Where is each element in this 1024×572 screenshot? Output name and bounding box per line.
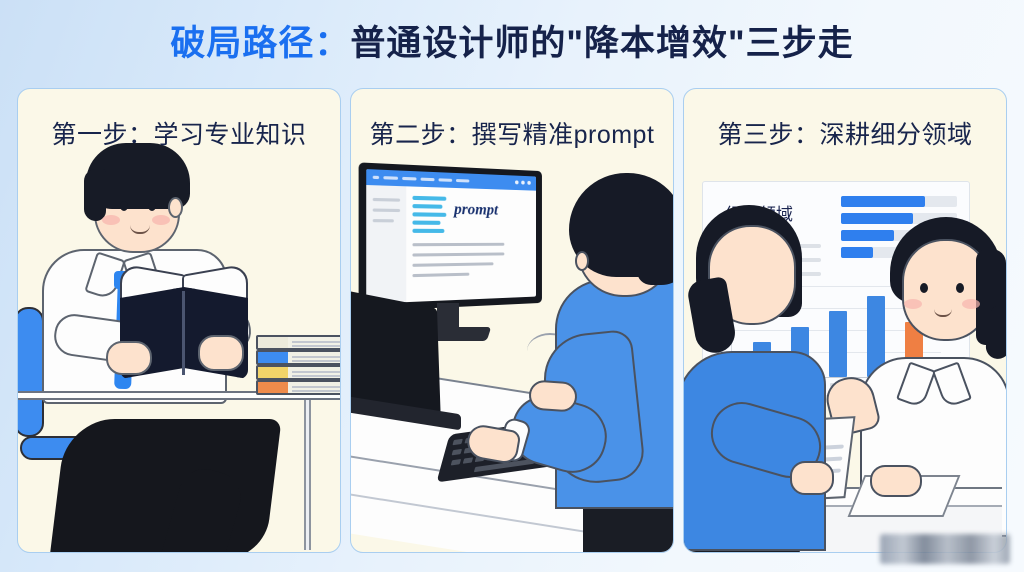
person-hair-side: [84, 169, 106, 221]
person-ear: [168, 197, 183, 218]
step-card-1[interactable]: 第一步：学习专业知识: [17, 88, 341, 553]
book-spine: [182, 291, 185, 375]
step-card-3[interactable]: 第三步：深耕细分领域 细分领域: [683, 88, 1007, 553]
watermark: [880, 534, 1010, 564]
person-hand-right: [528, 379, 578, 412]
right-person-eye-left: [920, 283, 928, 293]
page-title-main: 普通设计师的"降本增效"三步走: [350, 24, 853, 63]
person-eye-left: [120, 201, 128, 211]
stacked-book: [256, 365, 341, 380]
left-person-hand: [790, 461, 834, 495]
person-blush-right: [152, 215, 170, 225]
progress-fill: [841, 196, 925, 207]
person-blush-left: [102, 215, 120, 225]
right-person-blush-left: [904, 299, 922, 309]
step-card-3-title: 第三步：深耕细分领域: [684, 89, 1006, 151]
chair-back: [17, 307, 44, 437]
step-card-2-title: 第二步：撰写精准prompt: [351, 89, 673, 151]
person-hand-right: [198, 335, 244, 371]
progress-fill: [841, 230, 894, 241]
person-legs: [49, 419, 281, 553]
monitor-screen: prompt: [366, 169, 536, 304]
browser-sidebar: [366, 185, 406, 304]
person-eye-right: [148, 201, 156, 211]
step-card-1-title: 第一步：学习专业知识: [18, 89, 340, 151]
progress-track: [841, 196, 957, 207]
stacked-book: [256, 380, 341, 395]
chart-bar: [829, 311, 847, 377]
page-title-accent: 破局路径：: [170, 24, 350, 63]
steps-container: 第一步：学习专业知识: [17, 88, 1007, 553]
person-hair-back: [637, 199, 674, 285]
right-person-hand-on-table: [870, 465, 922, 497]
illustration-meeting: 细分领域: [684, 89, 1006, 552]
person-hand-left: [106, 341, 152, 375]
illustration-person-typing: prompt: [351, 89, 673, 552]
book-stack: [256, 335, 341, 395]
monitor-neck: [437, 303, 459, 329]
right-person-eye-right: [956, 283, 964, 293]
page-title: 破局路径：普通设计师的"降本增效"三步走: [170, 26, 853, 61]
window-controls[interactable]: [515, 180, 531, 184]
screen-heading: prompt: [454, 201, 498, 220]
page-header: 破局路径：普通设计师的"降本增效"三步走: [0, 0, 1024, 86]
monitor: prompt: [359, 162, 542, 311]
person-ear: [575, 251, 589, 271]
progress-fill: [841, 247, 873, 258]
accent-lines: [412, 194, 529, 197]
step-card-2[interactable]: 第二步：撰写精准prompt: [350, 88, 674, 553]
stacked-book: [256, 350, 341, 365]
desk-leg: [304, 400, 311, 550]
stacked-book: [256, 335, 341, 350]
right-person-blush-right: [962, 299, 980, 309]
progress-fill: [841, 213, 913, 224]
document-content: prompt: [412, 194, 529, 296]
illustration-person-reading: [18, 89, 340, 552]
